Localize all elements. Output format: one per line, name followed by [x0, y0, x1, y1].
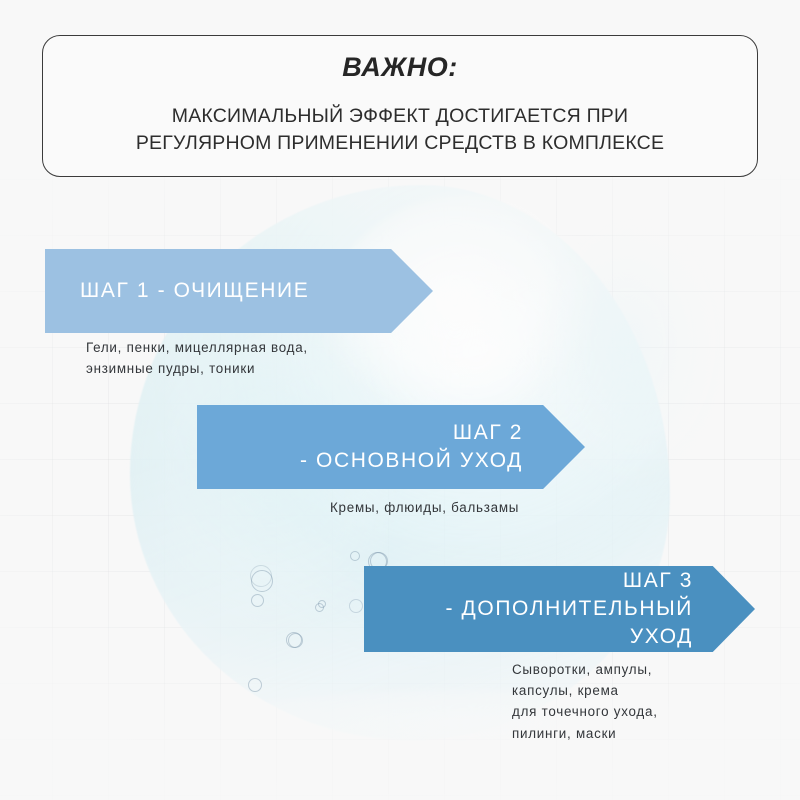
important-notice-box: ВАЖНО: МАКСИМАЛЬНЫЙ ЭФФЕКТ ДОСТИГАЕТСЯ П… [42, 35, 758, 177]
bubble-icon [286, 632, 302, 648]
bubble-icon [248, 678, 262, 692]
step-banner-1: ШАГ 1 - ОЧИЩЕНИЕ [45, 249, 433, 333]
bubble-icon [350, 551, 360, 561]
bubble-icon [251, 570, 273, 592]
notice-subtitle: МАКСИМАЛЬНЫЙ ЭФФЕКТ ДОСТИГАЕТСЯ ПРИ РЕГУ… [136, 103, 664, 158]
step-banner-2: ШАГ 2 - ОСНОВНОЙ УХОД [197, 405, 585, 489]
bubble-icon [288, 633, 303, 648]
bubble-icon [349, 599, 363, 613]
step-caption-3: Сыворотки, ампулы, капсулы, крема для то… [512, 659, 658, 744]
step-label-1: ШАГ 1 - ОЧИЩЕНИЕ [80, 277, 373, 305]
water-blob-bottom-sheen [150, 690, 770, 800]
step-banner-3: ШАГ 3 - ДОПОЛНИТЕЛЬНЫЙ УХОД [364, 566, 755, 652]
bubble-icon [251, 594, 264, 607]
bubble-icon [318, 600, 326, 608]
bubble-icon [315, 603, 324, 612]
step-label-3: ШАГ 3 - ДОПОЛНИТЕЛЬНЫЙ УХОД [390, 567, 693, 650]
notice-title: ВАЖНО: [342, 53, 458, 83]
infographic-canvas: ВАЖНО: МАКСИМАЛЬНЫЙ ЭФФЕКТ ДОСТИГАЕТСЯ П… [0, 0, 800, 800]
bubble-icon [250, 565, 272, 587]
step-label-2: ШАГ 2 - ОСНОВНОЙ УХОД [227, 419, 523, 474]
step-caption-2: Кремы, флюиды, бальзамы [330, 497, 519, 518]
step-caption-1: Гели, пенки, мицеллярная вода, энзимные … [86, 337, 308, 379]
water-blob-right-wisp [540, 215, 760, 515]
